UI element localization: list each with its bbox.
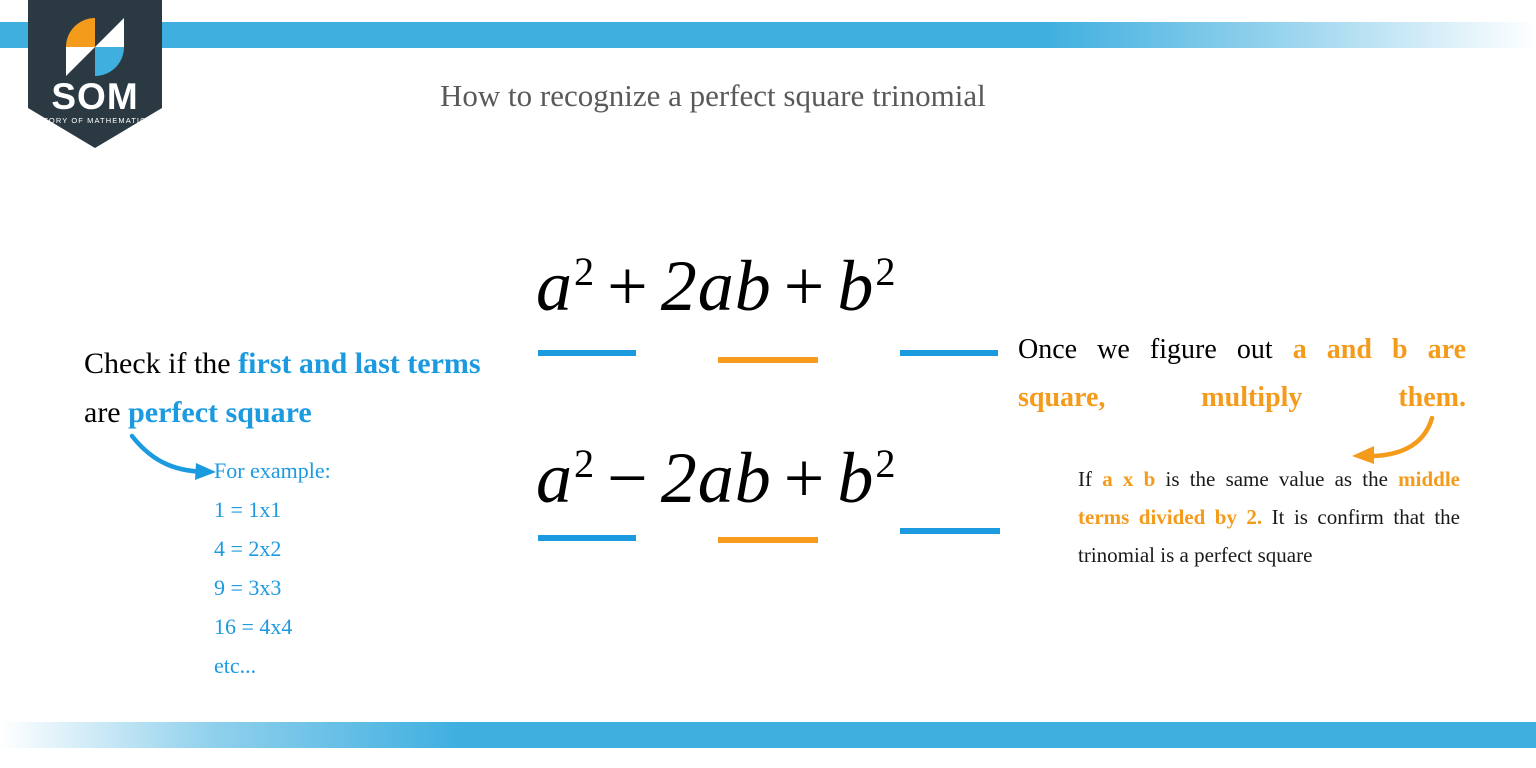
right-para-highlight-axb: a x b bbox=[1102, 467, 1155, 491]
left-text-part2: are bbox=[84, 396, 128, 429]
formula1-term1-exponent: 2 bbox=[574, 249, 595, 294]
formula2-underline-middle-term bbox=[718, 537, 818, 543]
formula1-underline-middle-term bbox=[718, 357, 818, 363]
formula2-term2: 2ab bbox=[661, 438, 772, 518]
list-item: etc... bbox=[214, 647, 444, 686]
formula2-operator1: − bbox=[595, 438, 661, 518]
formula1-term3-exponent: 2 bbox=[875, 249, 896, 294]
right-para-part1: If bbox=[1078, 467, 1102, 491]
formula2-term3-exponent: 2 bbox=[875, 441, 896, 486]
formula2-operator2: + bbox=[772, 438, 838, 518]
formula-perfect-square-sum: a2+2ab+b2 bbox=[536, 245, 897, 328]
som-s-mark-icon bbox=[65, 18, 125, 76]
brand-wordmark: SOM bbox=[28, 78, 162, 115]
right-para-part2: is the same value as the bbox=[1155, 467, 1398, 491]
brand-tagline: STORY OF MATHEMATICS bbox=[28, 117, 162, 125]
page-title: How to recognize a perfect square trinom… bbox=[440, 78, 986, 114]
left-instruction-text: Check if the first and last terms are pe… bbox=[84, 340, 484, 437]
left-highlight-first-last-terms: first and last terms bbox=[238, 347, 480, 380]
list-item: 9 = 3x3 bbox=[214, 569, 444, 608]
formula2-underline-last-term bbox=[900, 528, 1000, 534]
right-text-part1: Once we figure out bbox=[1018, 334, 1293, 365]
left-text-part1: Check if the bbox=[84, 347, 238, 380]
bottom-accent-bar bbox=[0, 722, 1536, 748]
mark-quadrant-top-right bbox=[95, 18, 124, 47]
list-item: 4 = 2x2 bbox=[214, 530, 444, 569]
list-item: For example: bbox=[214, 452, 444, 491]
mark-quadrant-bottom-right bbox=[95, 47, 124, 76]
brand-logo-badge: SOM STORY OF MATHEMATICS bbox=[28, 0, 162, 148]
top-accent-bar bbox=[0, 22, 1536, 48]
formula2-term1-base: a bbox=[536, 438, 573, 518]
formula1-term3-base: b bbox=[837, 246, 874, 326]
right-explanation-text: If a x b is the same value as the middle… bbox=[1078, 460, 1460, 575]
formula1-underline-first-term bbox=[538, 350, 636, 356]
formula1-term1-base: a bbox=[536, 246, 573, 326]
formula1-term2: 2ab bbox=[661, 246, 772, 326]
right-instruction-text: Once we figure out a and b are square, m… bbox=[1018, 326, 1466, 422]
list-item: 16 = 4x4 bbox=[214, 608, 444, 647]
formula1-operator1: + bbox=[595, 246, 661, 326]
formula2-underline-first-term bbox=[538, 535, 636, 541]
formula2-term1-exponent: 2 bbox=[574, 441, 595, 486]
formula-perfect-square-difference: a2−2ab+b2 bbox=[536, 437, 897, 520]
mark-quadrant-bottom-left bbox=[66, 47, 95, 76]
example-list: For example: 1 = 1x1 4 = 2x2 9 = 3x3 16 … bbox=[214, 452, 444, 686]
formula2-term3-base: b bbox=[837, 438, 874, 518]
formula1-operator2: + bbox=[772, 246, 838, 326]
formula1-underline-last-term bbox=[900, 350, 998, 356]
list-item: 1 = 1x1 bbox=[214, 491, 444, 530]
mark-quadrant-top-left bbox=[66, 18, 95, 47]
